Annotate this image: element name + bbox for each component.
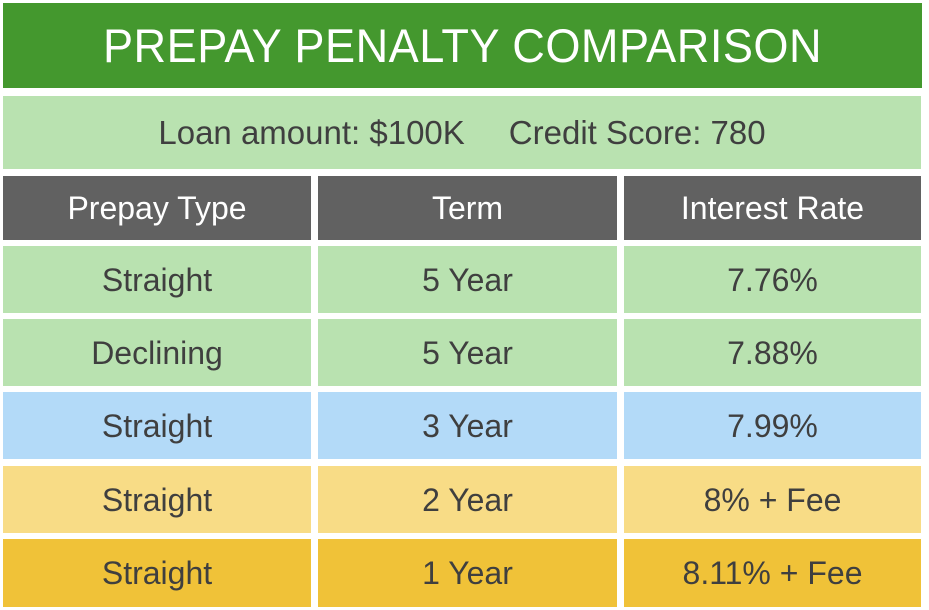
cell-interest-rate: 8.11% + Fee xyxy=(624,539,921,607)
cell-term: 5 Year xyxy=(318,246,617,313)
cell-interest-rate-value: 7.88% xyxy=(727,337,818,369)
cell-prepay-type: Straight xyxy=(3,246,311,313)
cell-prepay-type: Declining xyxy=(3,319,311,386)
column-header-prepay-type-label: Prepay Type xyxy=(67,192,246,224)
table-row: Straight 2 Year 8% + Fee xyxy=(3,466,921,533)
cell-term-value: 5 Year xyxy=(422,337,513,369)
table-row: Declining 5 Year 7.88% xyxy=(3,319,921,386)
page-title: PREPAY PENALTY COMPARISON xyxy=(103,22,822,69)
cell-prepay-type-value: Straight xyxy=(102,264,212,296)
table-row: Straight 3 Year 7.99% xyxy=(3,392,921,459)
cell-interest-rate: 7.88% xyxy=(624,319,921,386)
cell-term: 5 Year xyxy=(318,319,617,386)
cell-interest-rate-value: 8% + Fee xyxy=(704,484,842,516)
cell-prepay-type-value: Straight xyxy=(102,410,212,442)
cell-prepay-type-value: Declining xyxy=(91,337,223,369)
cell-prepay-type: Straight xyxy=(3,392,311,459)
credit-score-label: Credit Score: 780 xyxy=(509,116,766,149)
column-header-interest-rate: Interest Rate xyxy=(624,176,921,240)
cell-term: 1 Year xyxy=(318,539,617,607)
table-row: Straight 5 Year 7.76% xyxy=(3,246,921,313)
subtitle-group: Loan amount: $100K Credit Score: 780 xyxy=(158,116,765,149)
cell-prepay-type-value: Straight xyxy=(102,557,212,589)
column-header-term-label: Term xyxy=(432,192,503,224)
cell-term-value: 5 Year xyxy=(422,264,513,296)
cell-term-value: 2 Year xyxy=(422,484,513,516)
cell-interest-rate-value: 7.99% xyxy=(727,410,818,442)
table-header-row: Prepay Type Term Interest Rate xyxy=(3,176,921,240)
cell-interest-rate: 7.99% xyxy=(624,392,921,459)
subtitle-band: Loan amount: $100K Credit Score: 780 xyxy=(3,96,921,169)
loan-amount-label: Loan amount: $100K xyxy=(158,116,464,149)
cell-interest-rate-value: 8.11% + Fee xyxy=(683,557,863,589)
title-banner: PREPAY PENALTY COMPARISON xyxy=(3,3,922,88)
cell-interest-rate-value: 7.76% xyxy=(727,264,818,296)
comparison-table: Prepay Type Term Interest Rate Straight … xyxy=(3,176,921,607)
cell-term-value: 1 Year xyxy=(422,557,513,589)
column-header-prepay-type: Prepay Type xyxy=(3,176,311,240)
cell-interest-rate: 8% + Fee xyxy=(624,466,921,533)
column-header-interest-rate-label: Interest Rate xyxy=(681,192,864,224)
table-row: Straight 1 Year 8.11% + Fee xyxy=(3,539,921,607)
cell-prepay-type: Straight xyxy=(3,539,311,607)
cell-interest-rate: 7.76% xyxy=(624,246,921,313)
prepay-penalty-infographic: PREPAY PENALTY COMPARISON Loan amount: $… xyxy=(0,0,929,610)
column-header-term: Term xyxy=(318,176,617,240)
cell-prepay-type-value: Straight xyxy=(102,484,212,516)
cell-term-value: 3 Year xyxy=(422,410,513,442)
cell-prepay-type: Straight xyxy=(3,466,311,533)
cell-term: 2 Year xyxy=(318,466,617,533)
cell-term: 3 Year xyxy=(318,392,617,459)
